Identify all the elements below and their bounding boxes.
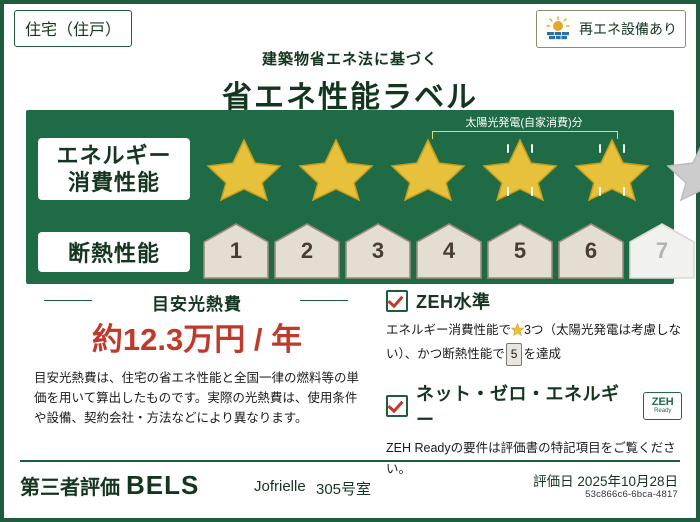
star-icon	[386, 136, 470, 204]
zeh-desc-part1: エネルギー消費性能で	[386, 323, 511, 337]
cost-title: 目安光熱費	[144, 290, 250, 315]
cost-title-wrap: 目安光熱費	[32, 290, 362, 315]
energy-performance-label-box: エネルギー 消費性能	[38, 138, 190, 200]
net-zero-energy-row: ネット・ゼロ・エネルギー ZEH Ready	[386, 380, 682, 432]
grade-number: 2	[301, 238, 313, 264]
evaluation-date-value: 2025年10月28日	[577, 474, 678, 489]
star-icon	[202, 136, 286, 204]
solar-note-text: 太陽光発電(自家消費)分	[424, 114, 624, 130]
title-subtext: 建築物省エネ法に基づく	[4, 48, 696, 69]
star-icon-solar	[570, 136, 654, 204]
energy-performance-label: 住宅（住戸）	[0, 0, 700, 522]
evaluation-id: 53c866c6-6bca-4817	[448, 489, 678, 500]
zeh-badge-line2: Ready	[654, 408, 671, 415]
star-rating	[202, 136, 664, 204]
bels-block: 第三者評価 BELS	[20, 470, 199, 501]
zeh-badge-line1: ZEH	[652, 397, 674, 408]
grade-number: 5	[514, 238, 526, 264]
zeh-standard-row: ZEH水準	[386, 288, 682, 314]
zeh-desc-part3: を達成	[523, 347, 561, 361]
energy-label-line2: 消費性能	[68, 169, 160, 196]
grade-number: 7	[656, 238, 668, 264]
performance-panel: 太陽光発電(自家消費)分 エネルギー 消費性能	[26, 110, 674, 284]
label-title: 建築物省エネ法に基づく 省エネ性能ラベル	[4, 48, 696, 116]
zeh-ready-badge: ZEH Ready	[643, 392, 682, 420]
insulation-grade-7: 7	[628, 222, 696, 280]
renewable-energy-text: 再エネ設備あり	[579, 19, 677, 39]
insulation-grade-5: 5	[486, 222, 554, 280]
bels-logo-text: BELS	[126, 470, 199, 501]
checkbox-checked-icon	[386, 290, 408, 312]
room-number: 305号室	[316, 478, 371, 499]
grade-number: 3	[372, 238, 384, 264]
evaluation-date: 評価日 2025年10月28日	[448, 470, 678, 490]
third-party-eval-text: 第三者評価	[20, 471, 120, 500]
zeh-standard-description: エネルギー消費性能で3つ（太陽光発電は考慮しない）、かつ断熱性能で5を達成	[386, 320, 682, 366]
insulation-grade-4: 4	[415, 222, 483, 280]
insulation-grade-3: 3	[344, 222, 412, 280]
energy-label-line1: エネルギー	[56, 142, 171, 169]
insulation-label-text: 断熱性能	[68, 236, 160, 268]
grade-number: 6	[585, 238, 597, 264]
evaluation-date-label: 評価日	[533, 474, 574, 489]
star-icon	[294, 136, 378, 204]
zeh-section: ZEH水準 エネルギー消費性能で3つ（太陽光発電は考慮しない）、かつ断熱性能で5…	[386, 288, 682, 480]
cost-description: 目安光熱費は、住宅の省エネ性能と全国一律の燃料等の単価を用いて算出したものです。…	[34, 368, 364, 428]
top-bar: 住宅（住戸）	[4, 4, 696, 50]
insulation-grade-row: 1 2 3 4 5 6 7	[202, 222, 696, 280]
inline-grade-badge: 5	[506, 343, 523, 366]
insulation-grade-2: 2	[273, 222, 341, 280]
insulation-grade-1: 1	[202, 222, 270, 280]
inline-star-icon	[511, 322, 524, 343]
star-icon-empty	[662, 136, 700, 204]
insulation-label-box: 断熱性能	[38, 232, 190, 272]
grade-number: 4	[443, 238, 455, 264]
star-icon-solar	[478, 136, 562, 204]
checkbox-checked-icon	[386, 395, 408, 417]
footer: 第三者評価 BELS Jofrielle 305号室 評価日 2025年10月2…	[4, 462, 696, 518]
net-zero-energy-title: ネット・ゼロ・エネルギー	[416, 380, 629, 432]
cost-amount: 約12.3万円 / 年	[32, 314, 362, 359]
zeh-standard-title: ZEH水準	[416, 288, 491, 314]
solar-panel-icon	[543, 16, 573, 42]
insulation-grade-6: 6	[557, 222, 625, 280]
grade-number: 1	[230, 238, 242, 264]
building-name: Jofrielle	[254, 478, 306, 495]
renewable-energy-badge: 再エネ設備あり	[536, 10, 686, 48]
house-type-badge: 住宅（住戸）	[14, 10, 132, 47]
